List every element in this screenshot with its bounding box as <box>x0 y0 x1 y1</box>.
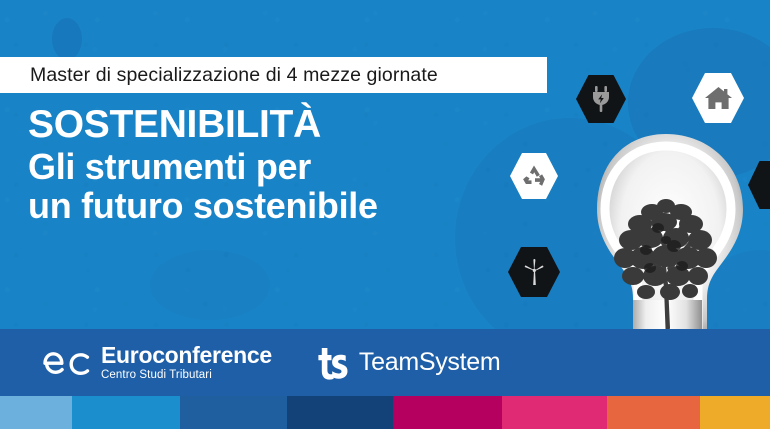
background-blob <box>52 18 82 60</box>
color-swatch-pink <box>502 396 607 429</box>
color-swatch-yellow <box>700 396 770 429</box>
headline-line-1: SOSTENIBILITÀ <box>28 104 378 147</box>
euroconference-subtitle: Centro Studi Tributari <box>101 370 272 382</box>
euroconference-title: Euroconference <box>101 344 272 367</box>
color-swatch-light-blue <box>0 396 72 429</box>
lightbulb-with-tree-icon <box>578 128 754 360</box>
promo-banner: Master di specializzazione di 4 mezze gi… <box>0 0 770 429</box>
eyebrow-text: Master di specializzazione di 4 mezze gi… <box>30 64 438 87</box>
teamsystem-logo[interactable]: TeamSystem <box>317 346 500 380</box>
eyebrow-bar: Master di specializzazione di 4 mezze gi… <box>0 57 547 93</box>
euroconference-wordmark: Euroconference Centro Studi Tributari <box>101 344 272 382</box>
color-swatch-orange <box>607 396 700 429</box>
color-strip <box>0 396 770 429</box>
color-swatch-dark-blue <box>287 396 393 429</box>
footer-band: Euroconference Centro Studi Tributari Te… <box>0 329 770 396</box>
color-swatch-magenta <box>393 396 502 429</box>
page-title: SOSTENIBILITÀ Gli strumenti per un futur… <box>28 104 378 226</box>
headline-line-3: un futuro sostenibile <box>28 186 378 226</box>
euroconference-logo[interactable]: Euroconference Centro Studi Tributari <box>40 344 272 382</box>
ec-monogram-icon <box>40 346 92 380</box>
ts-monogram-icon <box>317 346 349 380</box>
teamsystem-wordmark: TeamSystem <box>359 350 500 375</box>
background-blob <box>150 250 270 320</box>
headline-line-2: Gli strumenti per <box>28 147 378 187</box>
color-swatch-medium-blue <box>180 396 287 429</box>
color-swatch-blue <box>72 396 180 429</box>
